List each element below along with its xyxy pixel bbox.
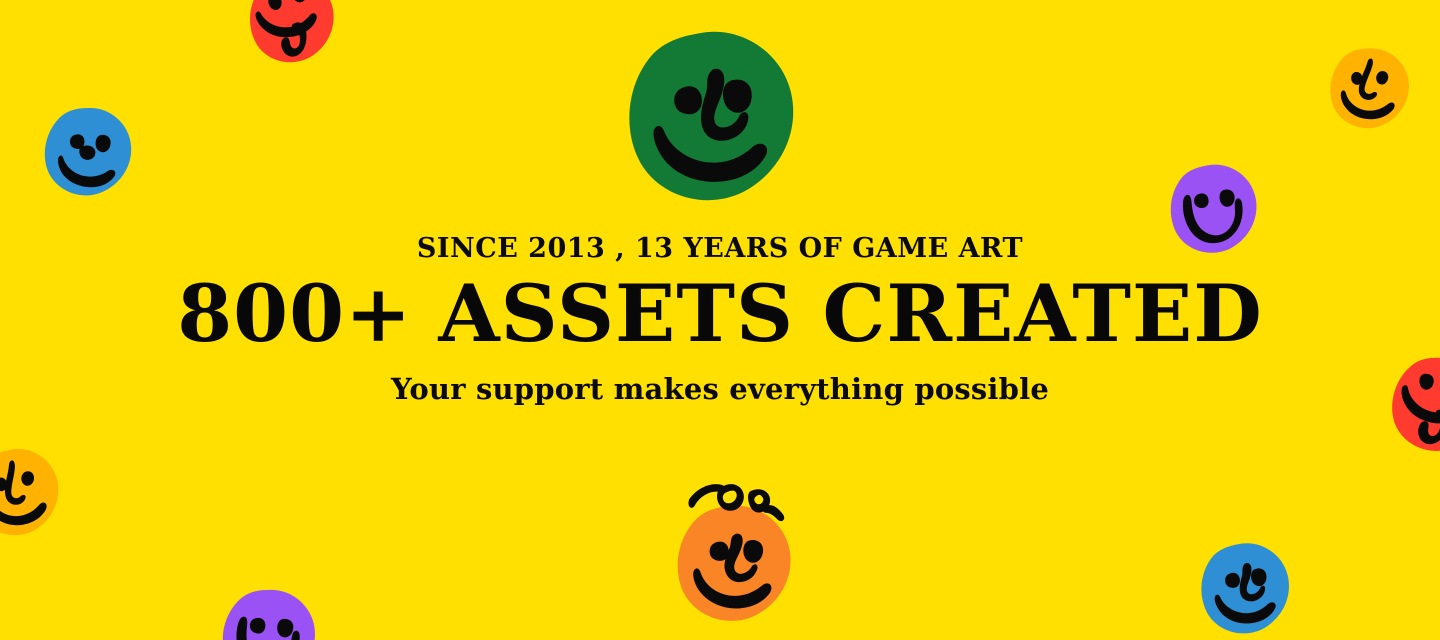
smiley-amber-left-edge xyxy=(0,414,84,549)
banner-headline: 800+ASSETS CREATED xyxy=(177,270,1263,358)
smiley-amber-top-right xyxy=(1308,18,1432,142)
promo-banner: SINCE 2013 , 13 YEARS OF GAME ART 800+AS… xyxy=(0,0,1440,640)
banner-subtitle: Your support makes everything possible xyxy=(391,374,1049,406)
smiley-green-hero xyxy=(583,0,836,224)
smiley-red-tongue-top-left xyxy=(221,0,360,79)
smiley-orange-bottom-center xyxy=(650,465,821,636)
banner-eyebrow: SINCE 2013 , 13 YEARS OF GAME ART xyxy=(417,234,1023,264)
smiley-red-right-edge xyxy=(1362,317,1440,473)
headline-count: 800+ xyxy=(177,267,412,360)
smiley-purple-bottom-left xyxy=(195,551,345,640)
headline-label: ASSETS CREATED xyxy=(438,267,1262,360)
smiley-purple-right xyxy=(1146,132,1280,266)
smiley-blue-bottom-right xyxy=(1174,509,1314,640)
smiley-blue-left xyxy=(20,73,158,211)
